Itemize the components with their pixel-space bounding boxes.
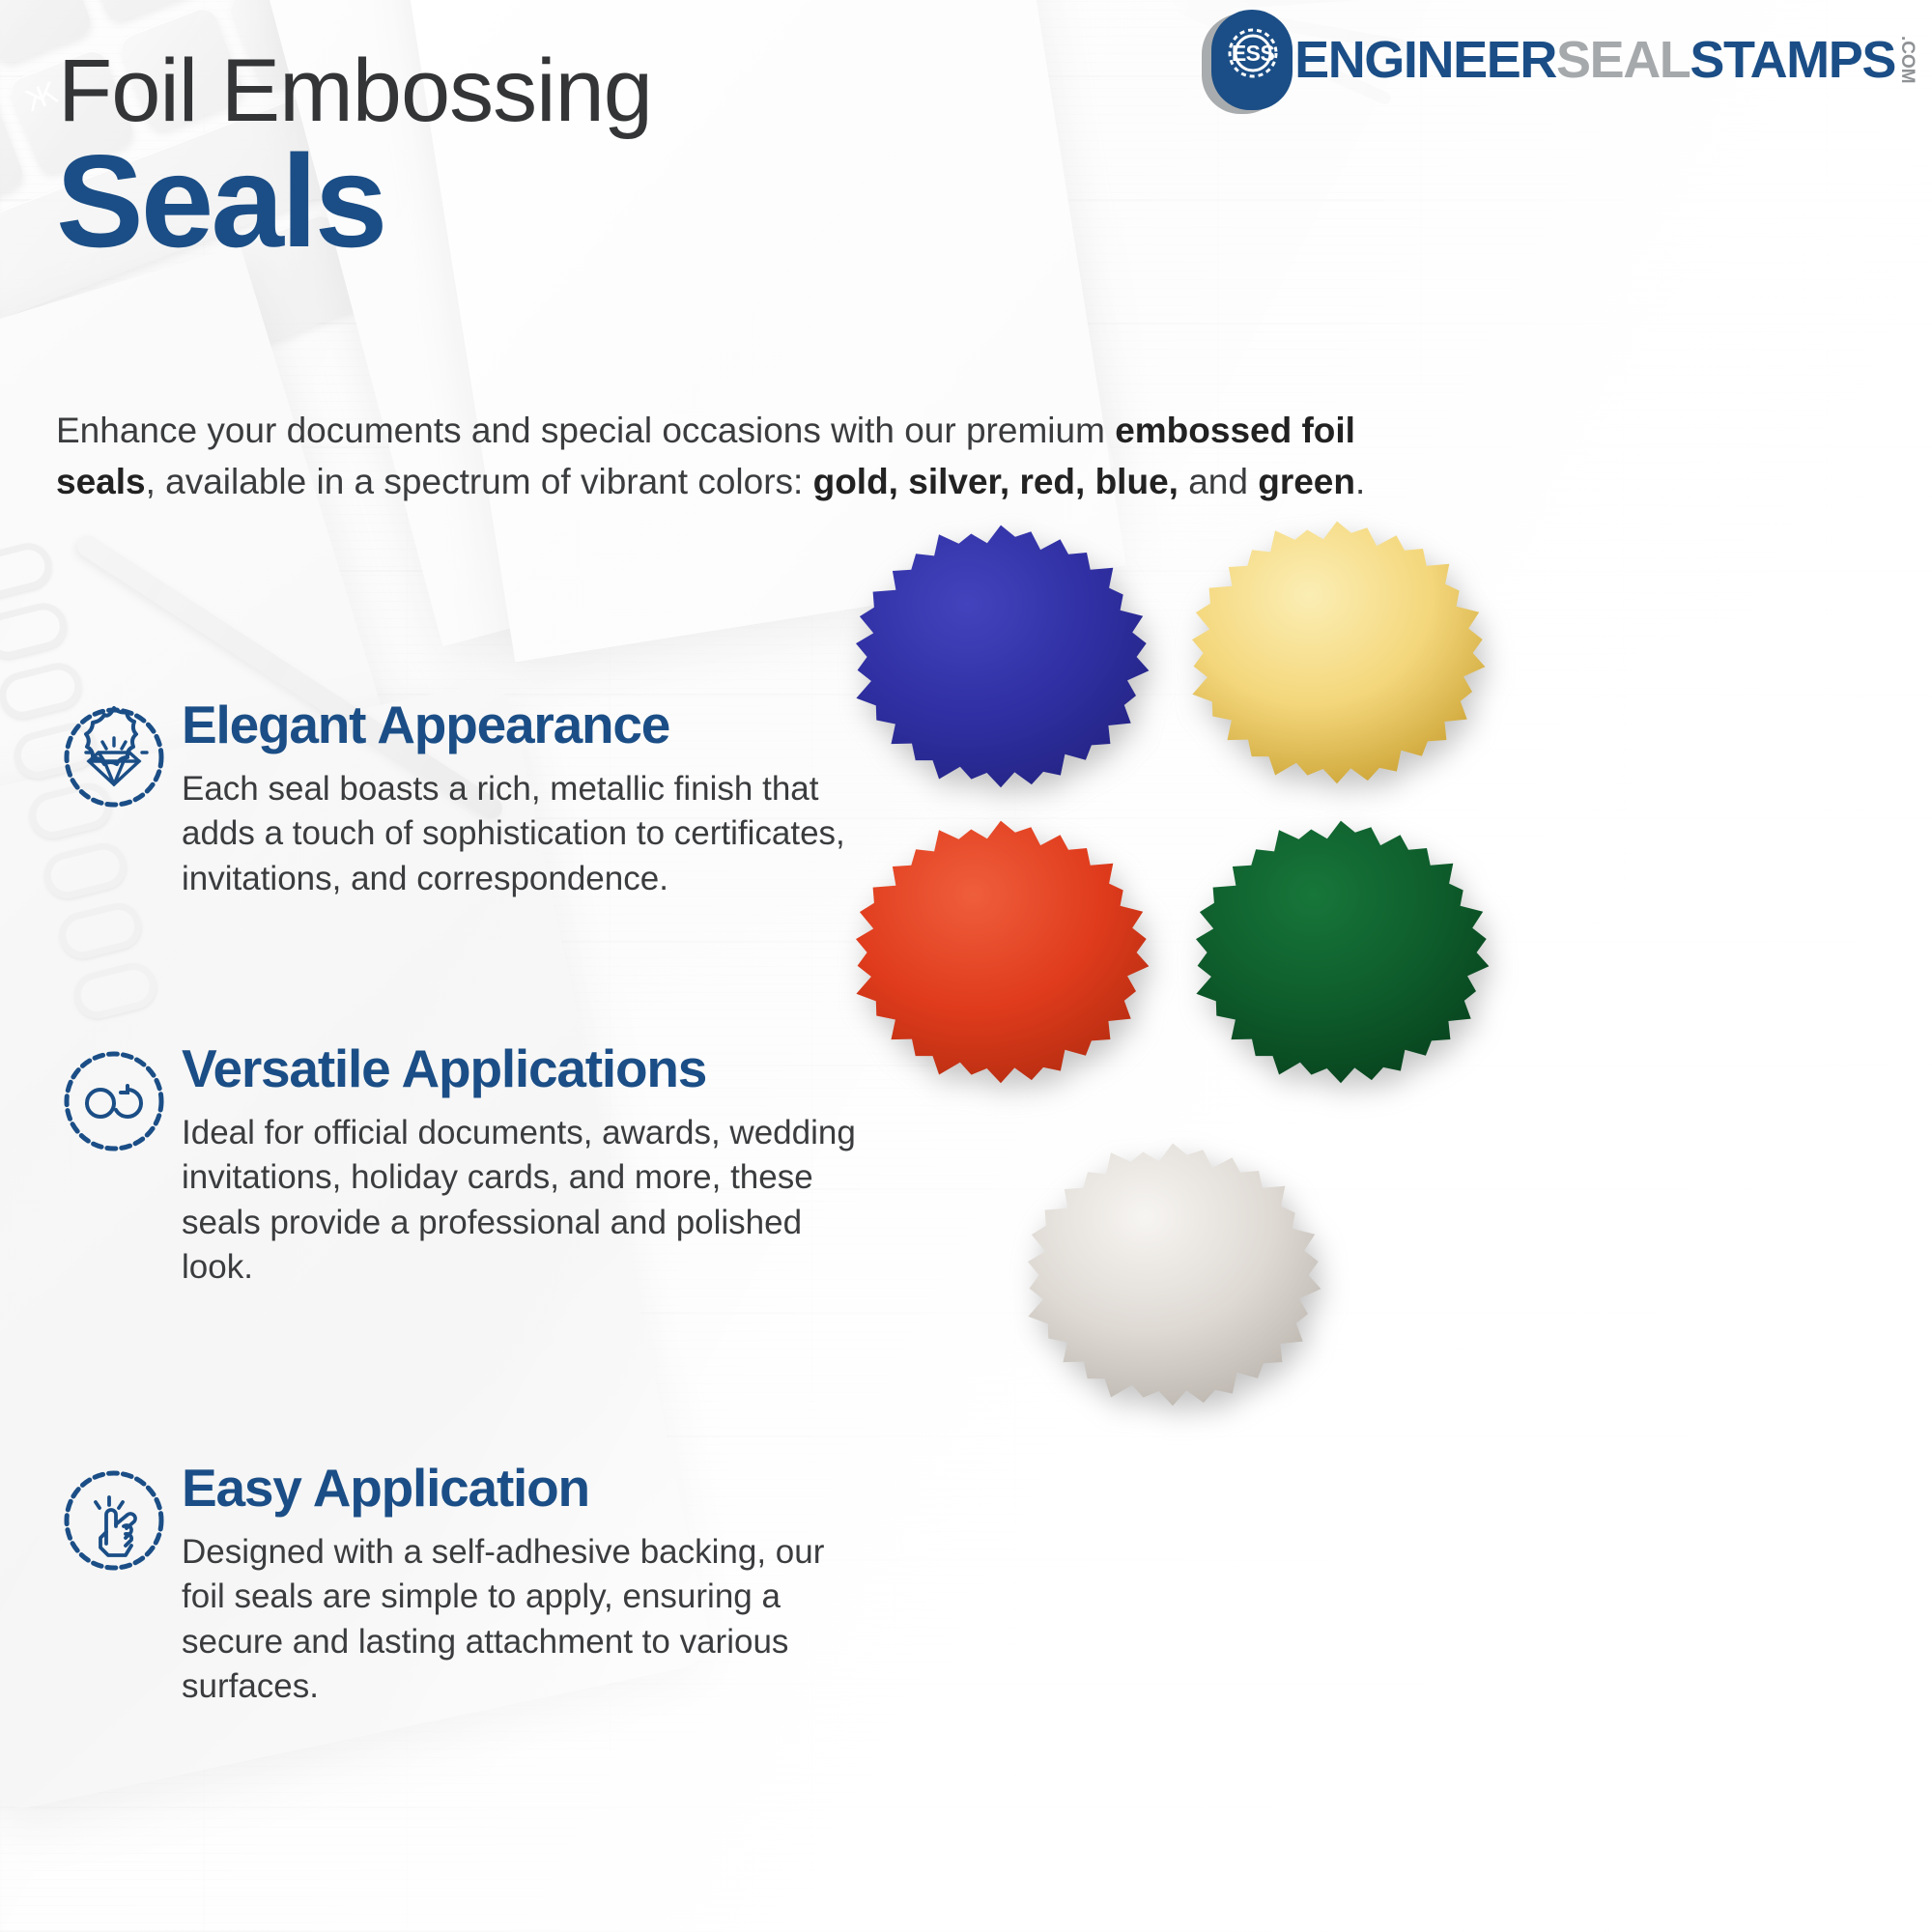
pointing-hand-tap-icon — [56, 1463, 172, 1578]
page-title-line-2: Seals — [56, 126, 384, 276]
feature-body: Designed with a self-adhesive backing, o… — [182, 1530, 858, 1710]
intro-bold-3: green — [1258, 462, 1355, 501]
feature-elegant-appearance: Elegant Appearance Each seal boasts a ri… — [56, 697, 858, 901]
intro-text-1: Enhance your documents and special occas… — [56, 411, 1115, 450]
brand-logo[interactable]: ESS ENGINEER SEAL STAMPS .COM — [1202, 10, 1917, 110]
seal-red — [837, 810, 1165, 1099]
intro-paragraph: Enhance your documents and special occas… — [56, 406, 1408, 507]
feature-heading: Easy Application — [182, 1461, 858, 1517]
seal-green — [1177, 810, 1505, 1099]
seal-silver — [1009, 1132, 1337, 1422]
feature-easy-application: Easy Application Designed with a self-ad… — [56, 1461, 858, 1710]
logo-word-stamps: STAMPS — [1690, 34, 1895, 86]
feature-body: Ideal for official documents, awards, we… — [182, 1111, 858, 1291]
feature-body: Each seal boasts a rich, metallic finish… — [182, 767, 858, 902]
logo-word-seal: SEAL — [1556, 34, 1690, 86]
intro-text-3: and — [1179, 462, 1258, 501]
intro-text-2: , available in a spectrum of vibrant col… — [146, 462, 813, 501]
feature-heading: Versatile Applications — [182, 1041, 858, 1097]
logo-word-engineer: ENGINEER — [1294, 34, 1556, 86]
intro-text-4: . — [1355, 462, 1365, 501]
logo-suffix-com: .COM — [1898, 36, 1917, 84]
infographic-canvas: КЛ/ДБ ЧЭУ7Э НРМЬ ВИСЩЖ — [0, 0, 1932, 1932]
infinity-loop-icon — [56, 1043, 172, 1159]
feature-versatile-applications: Versatile Applications Ideal for officia… — [56, 1041, 858, 1291]
seal-gold — [1173, 510, 1501, 800]
ess-shield-icon: ESS — [1202, 10, 1294, 110]
feature-heading: Elegant Appearance — [182, 697, 858, 753]
intro-bold-2: gold, silver, red, blue, — [813, 462, 1179, 501]
seal-blue — [837, 514, 1165, 804]
ess-monogram: ESS — [1221, 21, 1285, 85]
diamond-gem-icon — [56, 699, 172, 815]
